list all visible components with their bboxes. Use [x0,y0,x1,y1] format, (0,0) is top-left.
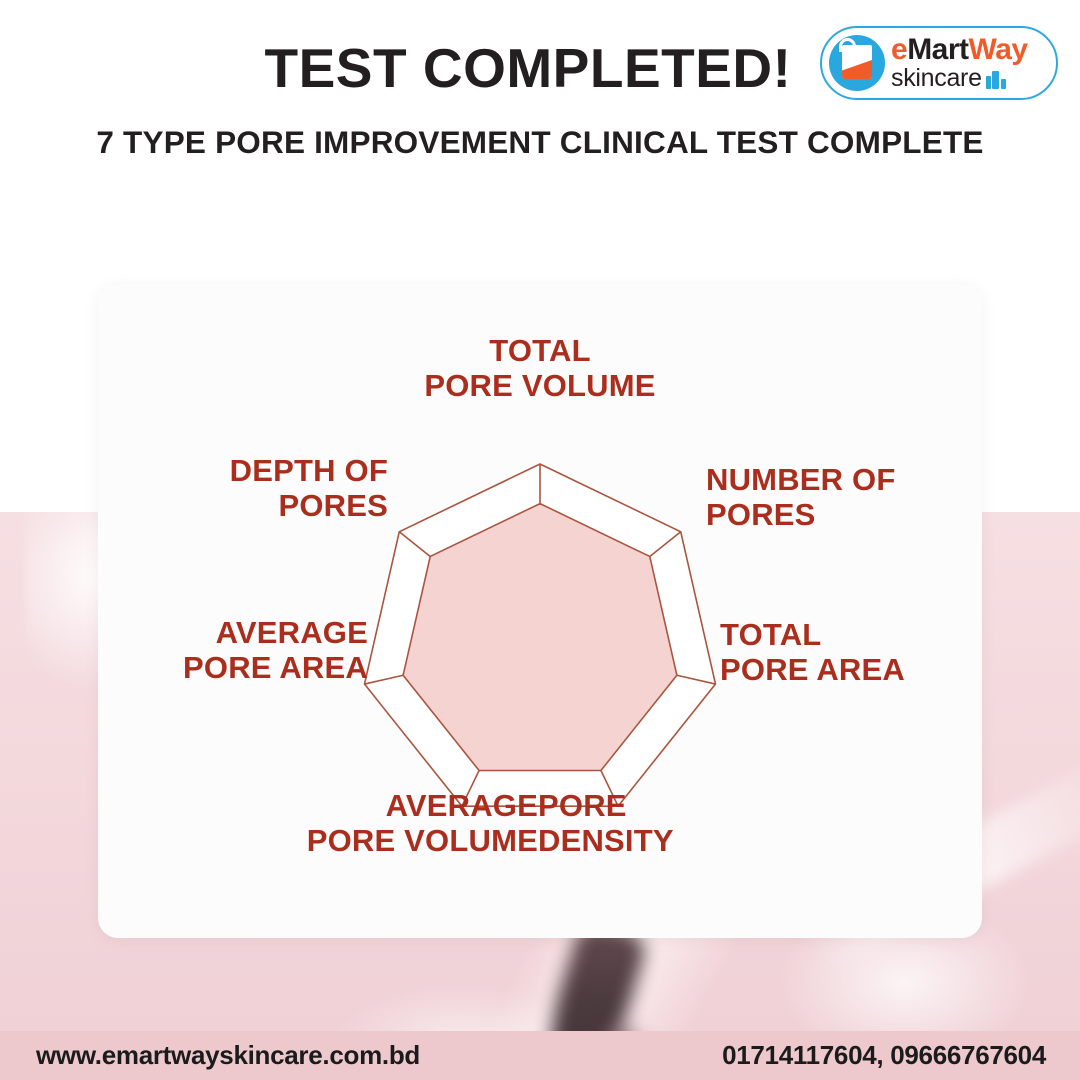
radar-chart: TOTAL PORE VOLUME NUMBER OF PORES TOTAL … [98,284,982,938]
axis-label-average-pore-area: AVERAGE PORE AREA [78,616,368,685]
axis-label-number-of-pores: NUMBER OF PORES [706,463,1006,532]
brand-wordmark: eMartWay skincare [891,35,1028,91]
brand-name-part3: Way [969,33,1028,66]
page-subtitle: 7 TYPE PORE IMPROVEMENT CLINICAL TEST CO… [0,124,1080,161]
footer-website-link[interactable]: www.emartwayskincare.com.bd [36,1040,420,1071]
chart-card: TOTAL PORE VOLUME NUMBER OF PORES TOTAL … [98,284,982,938]
axis-label-depth-of-pores: DEPTH OF PORES [98,454,388,523]
cosmetic-bottles-icon [986,71,1006,89]
brand-tagline-row: skincare [891,66,1028,91]
axis-label-total-pore-volume: TOTAL PORE VOLUME [290,334,790,403]
axis-label-average-pore-volume: AVERAGE PORE VOLUME [158,789,538,858]
brand-name-part2: Mart [907,33,968,66]
axis-label-pore-density: PORE DENSITY [538,789,798,858]
brand-logo[interactable]: eMartWay skincare [820,26,1058,100]
footer-bar: www.emartwayskincare.com.bd 01714117604,… [0,1031,1080,1080]
axis-label-total-pore-area: TOTAL PORE AREA [720,618,1020,687]
shopping-bag-icon [829,35,885,91]
brand-tagline: skincare [891,66,982,91]
brand-name: eMartWay [891,35,1028,65]
footer-phone-number[interactable]: 01714117604, 09666767604 [722,1040,1046,1071]
shopping-bag-handle [839,38,856,52]
brand-name-part1: e [891,33,907,66]
